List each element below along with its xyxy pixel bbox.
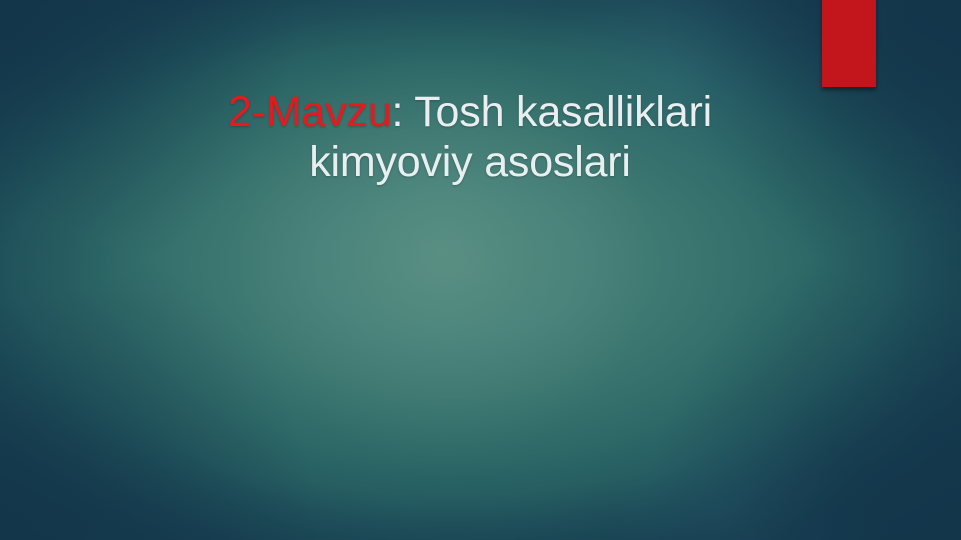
slide-title-line-two: kimyoviy asoslari — [100, 138, 840, 188]
slide-title-accent: 2-Mavzu — [228, 88, 391, 136]
slide-title-remainder: : Tosh kasalliklari — [392, 88, 712, 136]
slide-background-vignette — [0, 0, 961, 540]
slide-title: 2-Mavzu: Tosh kasalliklarikimyoviy asosl… — [100, 88, 840, 188]
red-accent-bar — [822, 0, 876, 87]
presentation-slide: 2-Mavzu: Tosh kasalliklarikimyoviy asosl… — [0, 0, 961, 540]
